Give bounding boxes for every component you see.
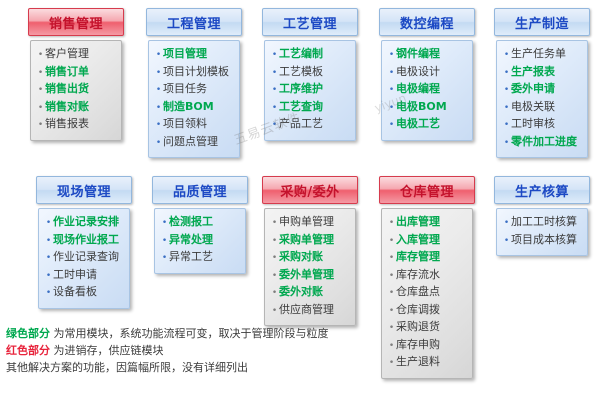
module-item-label: 加工工时核算 — [511, 214, 577, 230]
module-item-label: 零件加工进度 — [511, 134, 577, 150]
legend-green-tag: 绿色部分 — [6, 327, 50, 340]
bullet-icon: • — [154, 83, 163, 99]
module-item[interactable]: •采购退货 — [387, 319, 465, 337]
bullet-icon: • — [502, 118, 511, 134]
module-item[interactable]: •工艺查询 — [270, 99, 348, 117]
legend-row-red: 红色部分 为进销存，供应链模块 — [6, 342, 329, 359]
bullet-icon: • — [36, 83, 45, 99]
bullet-icon: • — [36, 101, 45, 117]
module-item[interactable]: •仓库调拨 — [387, 302, 465, 320]
module-card-title[interactable]: 采购/委外 — [262, 176, 358, 204]
bullet-icon: • — [270, 118, 279, 134]
bullet-icon: • — [154, 101, 163, 117]
module-item[interactable]: •销售报表 — [36, 116, 114, 134]
module-item-label: 库存管理 — [396, 249, 440, 265]
module-item-list: •客户管理•销售订单•销售出货•销售对账•销售报表 — [36, 46, 114, 134]
module-item-label: 销售报表 — [45, 116, 89, 132]
module-item[interactable]: •检测报工 — [160, 214, 238, 232]
module-item-list: •出库管理•入库管理•库存管理•库存流水•仓库盘点•仓库调拨•采购退货•库存申购… — [387, 214, 465, 372]
module-item-label: 库存申购 — [396, 337, 440, 353]
module-card-body: •申购单管理•采购单管理•采购对账•委外单管理•委外对账•供应商管理 — [264, 208, 356, 326]
module-card: 采购/委外•申购单管理•采购单管理•采购对账•委外单管理•委外对账•供应商管理 — [262, 176, 358, 326]
module-item[interactable]: •工艺编制 — [270, 46, 348, 64]
module-item[interactable]: •异常处理 — [160, 232, 238, 250]
bullet-icon: • — [387, 269, 396, 285]
legend: 绿色部分 为常用模块，系统功能流程可变，取决于管理阶段与粒度 红色部分 为进销存… — [6, 325, 329, 376]
module-item-label: 委外单管理 — [279, 267, 334, 283]
module-item-label: 电极工艺 — [396, 116, 440, 132]
module-item[interactable]: •客户管理 — [36, 46, 114, 64]
bullet-icon: • — [44, 269, 53, 285]
module-item[interactable]: •生产报表 — [502, 64, 580, 82]
module-item[interactable]: •钢件编程 — [387, 46, 465, 64]
module-item[interactable]: •采购对账 — [270, 249, 348, 267]
bullet-icon: • — [502, 234, 511, 250]
module-card: 工艺管理•工艺编制•工艺模板•工序维护•工艺查询•产品工艺 — [262, 8, 358, 141]
module-item[interactable]: •出库管理 — [387, 214, 465, 232]
module-item-label: 工时申请 — [53, 267, 97, 283]
module-item[interactable]: •销售对账 — [36, 99, 114, 117]
bullet-icon: • — [270, 234, 279, 250]
module-item-label: 客户管理 — [45, 46, 89, 62]
bullet-icon: • — [270, 286, 279, 302]
module-item-label: 工艺编制 — [279, 46, 323, 62]
module-item[interactable]: •作业记录查询 — [44, 249, 122, 267]
module-item-label: 出库管理 — [396, 214, 440, 230]
module-item-label: 申购单管理 — [279, 214, 334, 230]
module-item[interactable]: •生产任务单 — [502, 46, 580, 64]
module-item[interactable]: •电极工艺 — [387, 116, 465, 134]
module-item-label: 制造BOM — [163, 99, 214, 115]
bullet-icon: • — [387, 304, 396, 320]
module-item-label: 钢件编程 — [396, 46, 440, 62]
bullet-icon: • — [270, 304, 279, 320]
legend-row-note: 其他解决方案的功能，因篇幅所限，没有详细列出 — [6, 359, 329, 376]
module-item-label: 项目任务 — [163, 81, 207, 97]
module-item[interactable]: •加工工时核算 — [502, 214, 580, 232]
module-card-body: •工艺编制•工艺模板•工序维护•工艺查询•产品工艺 — [264, 40, 356, 141]
module-item-label: 工时审核 — [511, 116, 555, 132]
module-item[interactable]: •项目成本核算 — [502, 232, 580, 250]
module-item[interactable]: •委外申请 — [502, 81, 580, 99]
module-item-label: 供应商管理 — [279, 302, 334, 318]
module-item-label: 生产任务单 — [511, 46, 566, 62]
module-item-list: •钢件编程•电极设计•电极编程•电极BOM•电极工艺 — [387, 46, 465, 134]
module-item[interactable]: •工时审核 — [502, 116, 580, 134]
module-card: 数控编程•钢件编程•电极设计•电极编程•电极BOM•电极工艺 — [379, 8, 475, 141]
bullet-icon: • — [502, 216, 511, 232]
module-item-label: 电极BOM — [396, 99, 447, 115]
module-item[interactable]: •问题点管理 — [154, 134, 232, 152]
module-card-body: •加工工时核算•项目成本核算 — [496, 208, 588, 256]
module-item[interactable]: •产品工艺 — [270, 116, 348, 134]
bullet-icon: • — [387, 251, 396, 267]
module-item[interactable]: •异常工艺 — [160, 249, 238, 267]
module-item-label: 现场作业报工 — [53, 232, 119, 248]
module-item[interactable]: •委外对账 — [270, 284, 348, 302]
module-card: 生产制造•生产任务单•生产报表•委外申请•电极关联•工时审核•零件加工进度 — [494, 8, 590, 158]
module-item[interactable]: •库存管理 — [387, 249, 465, 267]
module-item-label: 电极设计 — [396, 64, 440, 80]
module-item[interactable]: •库存流水 — [387, 267, 465, 285]
module-card-body: •作业记录安排•现场作业报工•作业记录查询•工时申请•设备看板 — [38, 208, 130, 309]
module-card: 仓库管理•出库管理•入库管理•库存管理•库存流水•仓库盘点•仓库调拨•采购退货•… — [379, 176, 475, 379]
module-item[interactable]: •现场作业报工 — [44, 232, 122, 250]
legend-note-text: 其他解决方案的功能，因篇幅所限，没有详细列出 — [6, 361, 248, 374]
module-item-label: 问题点管理 — [163, 134, 218, 150]
module-item-label: 采购对账 — [279, 249, 323, 265]
module-card-title[interactable]: 现场管理 — [36, 176, 132, 204]
module-item[interactable]: •销售订单 — [36, 64, 114, 82]
module-item[interactable]: •库存申购 — [387, 337, 465, 355]
bullet-icon: • — [502, 48, 511, 64]
bullet-icon: • — [502, 136, 511, 152]
module-item-label: 工艺查询 — [279, 99, 323, 115]
bullet-icon: • — [387, 66, 396, 82]
module-item[interactable]: •工艺模板 — [270, 64, 348, 82]
bullet-icon: • — [387, 321, 396, 337]
module-item-label: 委外对账 — [279, 284, 323, 300]
module-card: 销售管理•客户管理•销售订单•销售出货•销售对账•销售报表 — [28, 8, 124, 141]
module-card-title[interactable]: 工艺管理 — [262, 8, 358, 36]
module-item[interactable]: •工时申请 — [44, 267, 122, 285]
module-card-title[interactable]: 工程管理 — [146, 8, 242, 36]
bullet-icon: • — [154, 66, 163, 82]
bullet-icon: • — [502, 83, 511, 99]
module-item[interactable]: •仓库盘点 — [387, 284, 465, 302]
module-item[interactable]: •工序维护 — [270, 81, 348, 99]
bullet-icon: • — [270, 101, 279, 117]
bullet-icon: • — [154, 48, 163, 64]
module-card-title[interactable]: 仓库管理 — [379, 176, 475, 204]
bullet-icon: • — [387, 118, 396, 134]
bullet-icon: • — [154, 118, 163, 134]
bullet-icon: • — [36, 66, 45, 82]
legend-row-green: 绿色部分 为常用模块，系统功能流程可变，取决于管理阶段与粒度 — [6, 325, 329, 342]
module-item[interactable]: •制造BOM — [154, 99, 232, 117]
module-card: 现场管理•作业记录安排•现场作业报工•作业记录查询•工时申请•设备看板 — [36, 176, 132, 309]
module-card-title[interactable]: 生产制造 — [494, 8, 590, 36]
module-item-label: 采购单管理 — [279, 232, 334, 248]
module-item-label: 工序维护 — [279, 81, 323, 97]
legend-red-text: 为进销存，供应链模块 — [54, 344, 164, 357]
module-item[interactable]: •申购单管理 — [270, 214, 348, 232]
module-item-label: 异常处理 — [169, 232, 213, 248]
module-card-title[interactable]: 品质管理 — [152, 176, 248, 204]
bullet-icon: • — [387, 356, 396, 372]
module-item-label: 项目计划模板 — [163, 64, 229, 80]
module-item-label: 仓库调拨 — [396, 302, 440, 318]
bullet-icon: • — [387, 216, 396, 232]
bullet-icon: • — [36, 118, 45, 134]
bullet-icon: • — [502, 101, 511, 117]
bullet-icon: • — [387, 48, 396, 64]
bullet-icon: • — [44, 234, 53, 250]
module-item[interactable]: •供应商管理 — [270, 302, 348, 320]
module-item[interactable]: •项目领料 — [154, 116, 232, 134]
bullet-icon: • — [270, 269, 279, 285]
module-item-label: 作业记录查询 — [53, 249, 119, 265]
module-card: 生产核算•加工工时核算•项目成本核算 — [494, 176, 590, 256]
module-item-label: 项目成本核算 — [511, 232, 577, 248]
module-item-label: 采购退货 — [396, 319, 440, 335]
bullet-icon: • — [160, 251, 169, 267]
bullet-icon: • — [387, 101, 396, 117]
module-card-body: •钢件编程•电极设计•电极编程•电极BOM•电极工艺 — [381, 40, 473, 141]
module-item-label: 设备看板 — [53, 284, 97, 300]
module-item[interactable]: •销售出货 — [36, 81, 114, 99]
bullet-icon: • — [387, 234, 396, 250]
module-item[interactable]: •委外单管理 — [270, 267, 348, 285]
bullet-icon: • — [160, 234, 169, 250]
module-item[interactable]: •项目任务 — [154, 81, 232, 99]
module-item-label: 检测报工 — [169, 214, 213, 230]
module-item-label: 生产退料 — [396, 354, 440, 370]
module-item-list: •项目管理•项目计划模板•项目任务•制造BOM•项目领料•问题点管理 — [154, 46, 232, 151]
bullet-icon: • — [270, 83, 279, 99]
module-item-label: 库存流水 — [396, 267, 440, 283]
module-card-title[interactable]: 销售管理 — [28, 8, 124, 36]
bullet-icon: • — [270, 48, 279, 64]
module-item-label: 销售出货 — [45, 81, 89, 97]
module-card-body: •客户管理•销售订单•销售出货•销售对账•销售报表 — [30, 40, 122, 141]
module-item[interactable]: •电极关联 — [502, 99, 580, 117]
module-item-list: •生产任务单•生产报表•委外申请•电极关联•工时审核•零件加工进度 — [502, 46, 580, 151]
module-card: 工程管理•项目管理•项目计划模板•项目任务•制造BOM•项目领料•问题点管理 — [146, 8, 242, 158]
module-card-body: •项目管理•项目计划模板•项目任务•制造BOM•项目领料•问题点管理 — [148, 40, 240, 158]
module-item[interactable]: •零件加工进度 — [502, 134, 580, 152]
module-item-label: 异常工艺 — [169, 249, 213, 265]
module-card: 品质管理•检测报工•异常处理•异常工艺 — [152, 176, 248, 274]
module-item-list: •作业记录安排•现场作业报工•作业记录查询•工时申请•设备看板 — [44, 214, 122, 302]
module-item-label: 仓库盘点 — [396, 284, 440, 300]
module-item-label: 作业记录安排 — [53, 214, 119, 230]
module-item-label: 产品工艺 — [279, 116, 323, 132]
legend-red-tag: 红色部分 — [6, 344, 50, 357]
module-item-label: 电极关联 — [511, 99, 555, 115]
module-item[interactable]: •入库管理 — [387, 232, 465, 250]
bullet-icon: • — [154, 136, 163, 152]
bullet-icon: • — [270, 216, 279, 232]
bullet-icon: • — [44, 216, 53, 232]
bullet-icon: • — [387, 286, 396, 302]
bullet-icon: • — [502, 66, 511, 82]
module-item[interactable]: •电极设计 — [387, 64, 465, 82]
module-item-label: 电极编程 — [396, 81, 440, 97]
module-item-label: 销售对账 — [45, 99, 89, 115]
module-item[interactable]: •作业记录安排 — [44, 214, 122, 232]
bullet-icon: • — [270, 251, 279, 267]
module-item-label: 委外申请 — [511, 81, 555, 97]
module-item-list: •检测报工•异常处理•异常工艺 — [160, 214, 238, 267]
module-card-body: •检测报工•异常处理•异常工艺 — [154, 208, 246, 274]
module-item[interactable]: •设备看板 — [44, 284, 122, 302]
module-item[interactable]: •采购单管理 — [270, 232, 348, 250]
module-item-list: •申购单管理•采购单管理•采购对账•委外单管理•委外对账•供应商管理 — [270, 214, 348, 319]
bullet-icon: • — [160, 216, 169, 232]
bullet-icon: • — [44, 251, 53, 267]
module-card-body: •出库管理•入库管理•库存管理•库存流水•仓库盘点•仓库调拨•采购退货•库存申购… — [381, 208, 473, 379]
module-item-label: 入库管理 — [396, 232, 440, 248]
module-item-label: 销售订单 — [45, 64, 89, 80]
bullet-icon: • — [270, 66, 279, 82]
module-item-label: 工艺模板 — [279, 64, 323, 80]
module-card-body: •生产任务单•生产报表•委外申请•电极关联•工时审核•零件加工进度 — [496, 40, 588, 158]
module-item-label: 项目管理 — [163, 46, 207, 62]
module-item-list: •加工工时核算•项目成本核算 — [502, 214, 580, 249]
module-item[interactable]: •电极编程 — [387, 81, 465, 99]
module-item[interactable]: •项目计划模板 — [154, 64, 232, 82]
legend-green-text: 为常用模块，系统功能流程可变，取决于管理阶段与粒度 — [54, 327, 329, 340]
bullet-icon: • — [44, 286, 53, 302]
bullet-icon: • — [36, 48, 45, 64]
module-card-title[interactable]: 数控编程 — [379, 8, 475, 36]
module-item-label: 项目领料 — [163, 116, 207, 132]
module-item[interactable]: •电极BOM — [387, 99, 465, 117]
module-item[interactable]: •生产退料 — [387, 354, 465, 372]
bullet-icon: • — [387, 83, 396, 99]
module-card-title[interactable]: 生产核算 — [494, 176, 590, 204]
module-item[interactable]: •项目管理 — [154, 46, 232, 64]
module-item-list: •工艺编制•工艺模板•工序维护•工艺查询•产品工艺 — [270, 46, 348, 134]
module-item-label: 生产报表 — [511, 64, 555, 80]
bullet-icon: • — [387, 339, 396, 355]
module-map-board: 销售管理•客户管理•销售订单•销售出货•销售对账•销售报表工程管理•项目管理•项… — [0, 0, 600, 400]
